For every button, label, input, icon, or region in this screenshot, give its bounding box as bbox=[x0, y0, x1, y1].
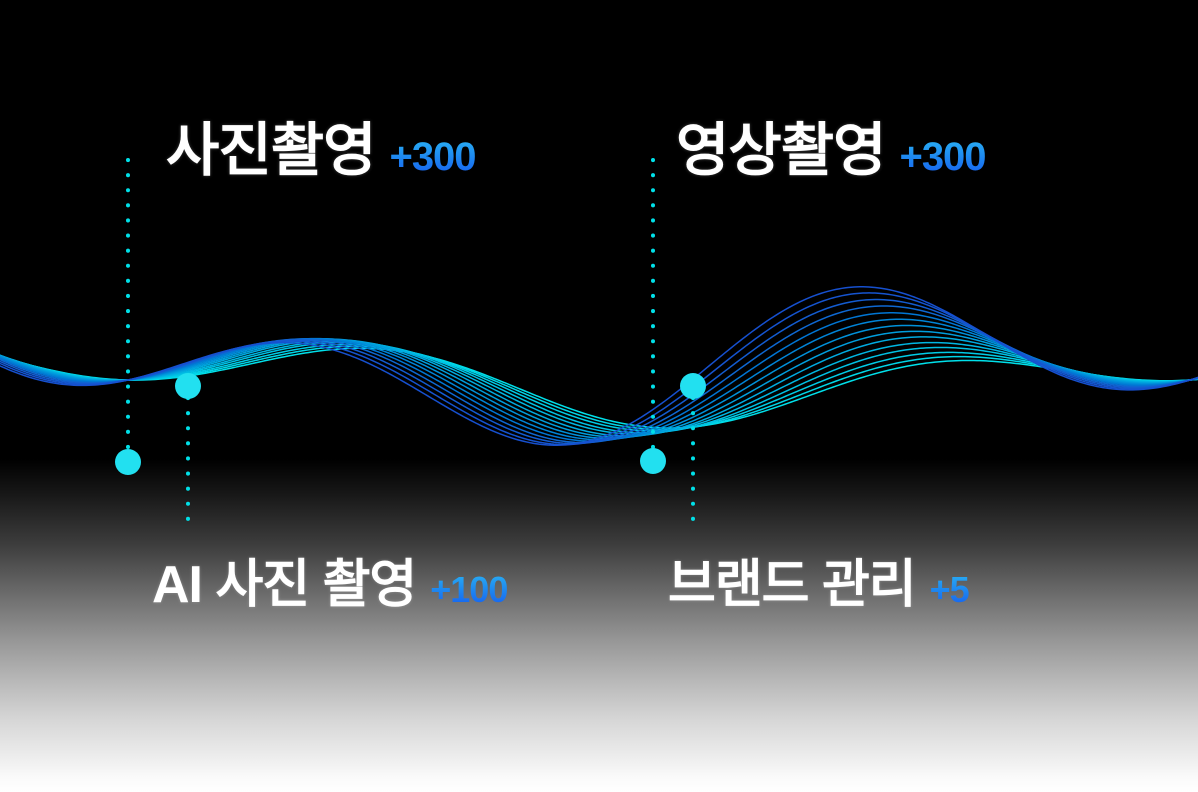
label-video-shoot[interactable]: 영상촬영 +300 bbox=[676, 103, 986, 187]
marker-video-shoot-dot-icon[interactable] bbox=[640, 448, 666, 474]
label-video-shoot-delta: +300 bbox=[899, 135, 985, 180]
label-ai-photo-shoot[interactable]: AI 사진 촬영 +100 bbox=[152, 542, 507, 617]
marker-ai-photo-shoot-dot-icon[interactable] bbox=[175, 373, 201, 399]
marker-photo-shoot-dot-icon[interactable] bbox=[115, 449, 141, 475]
label-photo-shoot[interactable]: 사진촬영 +300 bbox=[166, 103, 476, 187]
label-brand-management[interactable]: 브랜드 관리 +5 bbox=[668, 542, 969, 617]
label-video-shoot-name: 영상촬영 bbox=[676, 103, 885, 187]
waveform-infographic: 사진촬영 +300 영상촬영 +300 AI 사진 촬영 +100 브랜드 관리… bbox=[0, 0, 1198, 792]
label-ai-photo-shoot-name: AI 사진 촬영 bbox=[152, 542, 416, 617]
label-photo-shoot-delta: +300 bbox=[389, 135, 475, 180]
label-ai-photo-shoot-delta: +100 bbox=[430, 569, 507, 611]
label-brand-management-delta: +5 bbox=[930, 569, 969, 611]
label-brand-management-name: 브랜드 관리 bbox=[668, 542, 916, 617]
marker-brand-management-dot-icon[interactable] bbox=[680, 373, 706, 399]
label-photo-shoot-name: 사진촬영 bbox=[166, 103, 375, 187]
